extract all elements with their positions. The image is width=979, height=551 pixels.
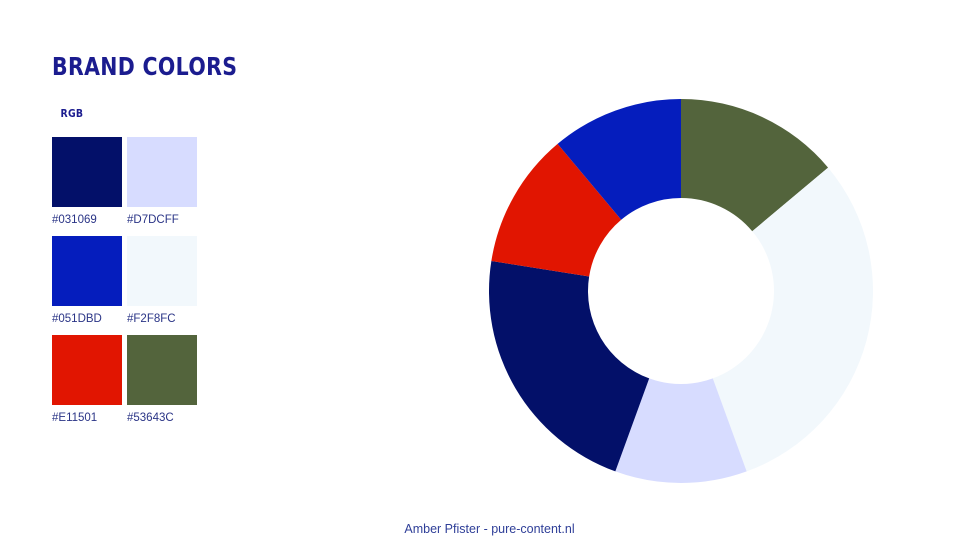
swatch-item[interactable]: #051DBD <box>52 236 122 325</box>
swatch-item[interactable]: #53643C <box>127 335 197 424</box>
swatch-item[interactable]: #031069 <box>52 137 122 226</box>
color-chip-blue[interactable] <box>52 236 122 306</box>
color-mode-subtitle: RGB <box>52 107 307 120</box>
swatch-item[interactable]: #F2F8FC <box>127 236 197 325</box>
color-chip-olive[interactable] <box>127 335 197 405</box>
swatch-item[interactable]: #E11501 <box>52 335 122 424</box>
color-hex-label: #031069 <box>52 214 122 226</box>
color-hex-label: #E11501 <box>52 412 122 424</box>
page-title: BRAND COLORS <box>52 52 298 81</box>
donut-chart <box>489 99 873 483</box>
color-chip-ice-white[interactable] <box>127 236 197 306</box>
swatch-item[interactable]: #D7DCFF <box>127 137 197 226</box>
color-chip-periwinkle[interactable] <box>127 137 197 207</box>
color-hex-label: #D7DCFF <box>127 214 197 226</box>
footer-credit: Amber Pfister - pure-content.nl <box>0 522 979 536</box>
swatch-grid: #031069 #D7DCFF #051DBD #F2F8FC #E11501 … <box>52 137 352 424</box>
color-hex-label: #051DBD <box>52 313 122 325</box>
brand-colors-panel: BRAND COLORS RGB #031069 #D7DCFF #051DBD… <box>52 52 352 424</box>
donut-segment[interactable] <box>489 261 649 471</box>
color-chip-red[interactable] <box>52 335 122 405</box>
donut-chart-svg <box>489 99 873 483</box>
color-hex-label: #53643C <box>127 412 197 424</box>
color-chip-navy[interactable] <box>52 137 122 207</box>
color-hex-label: #F2F8FC <box>127 313 197 325</box>
